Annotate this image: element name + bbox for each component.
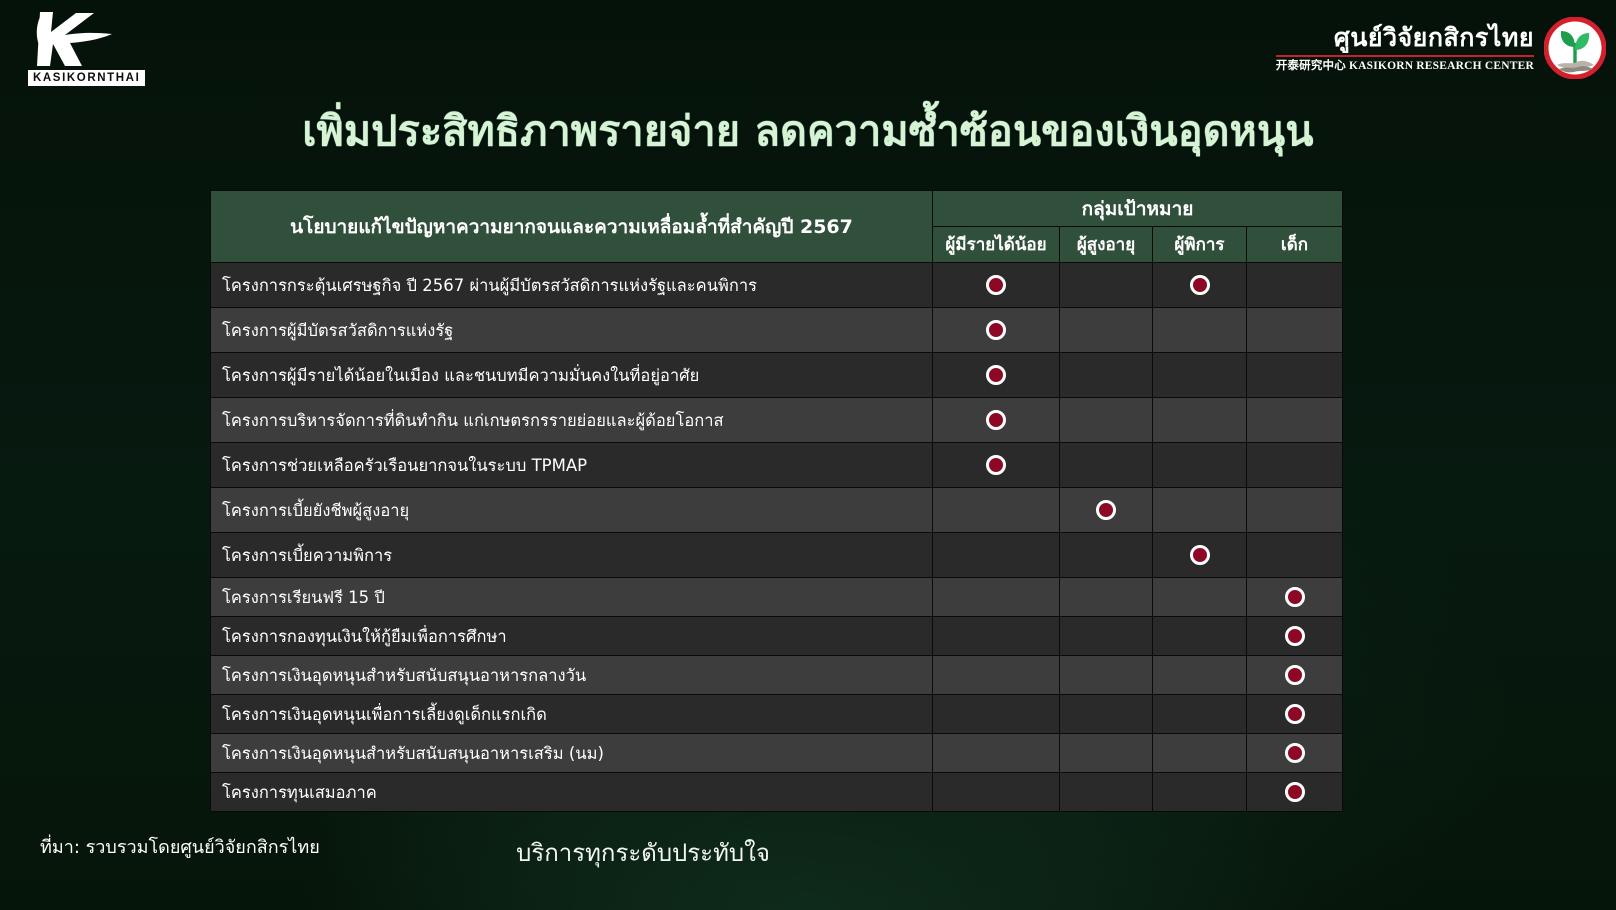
mark-cell-children xyxy=(1247,773,1343,812)
mark-cell-children xyxy=(1247,443,1343,488)
mark-cell-low-income xyxy=(933,656,1060,695)
target-dot-marker xyxy=(1190,275,1210,295)
mark-cell-children xyxy=(1247,353,1343,398)
policy-name-cell: โครงการทุนเสมอภาค xyxy=(211,773,933,812)
mark-cell-elderly xyxy=(1060,398,1153,443)
mark-cell-elderly xyxy=(1060,773,1153,812)
mark-cell-low-income xyxy=(933,578,1060,617)
policy-name-cell: โครงการเงินอุดหนุนสำหรับสนับสนุนอาหารกลา… xyxy=(211,656,933,695)
policy-target-group-table: นโยบายแก้ไขปัญหาความยากจนและความเหลื่อมล… xyxy=(210,190,1342,812)
mark-cell-disabled xyxy=(1153,398,1247,443)
table-row: โครงการเงินอุดหนุนเพื่อการเลี้ยงดูเด็กแร… xyxy=(211,695,1343,734)
mark-cell-disabled xyxy=(1153,263,1247,308)
mark-cell-elderly xyxy=(1060,617,1153,656)
table-row: โครงการช่วยเหลือครัวเรือนยากจนในระบบ TPM… xyxy=(211,443,1343,488)
mark-cell-elderly xyxy=(1060,533,1153,578)
mark-cell-low-income xyxy=(933,308,1060,353)
mark-cell-children xyxy=(1247,617,1343,656)
target-dot-marker xyxy=(986,320,1006,340)
policy-name-cell: โครงการผู้มีบัตรสวัสดิการแห่งรัฐ xyxy=(211,308,933,353)
mark-cell-low-income xyxy=(933,398,1060,443)
mark-cell-elderly xyxy=(1060,353,1153,398)
mark-cell-disabled xyxy=(1153,308,1247,353)
kresearch-text-block: ศูนย์วิจัยกสิกรไทย 开泰研究中心 KASIKORN RESEA… xyxy=(1276,23,1534,74)
kresearch-thai-name: ศูนย์วิจัยกสิกรไทย xyxy=(1276,23,1534,53)
mark-cell-disabled xyxy=(1153,443,1247,488)
column-header-disabled: ผู้พิการ xyxy=(1153,227,1247,263)
policy-name-cell: โครงการบริหารจัดการที่ดินทำกิน แก่เกษตรก… xyxy=(211,398,933,443)
table-row: โครงการบริหารจัดการที่ดินทำกิน แก่เกษตรก… xyxy=(211,398,1343,443)
policy-column-header: นโยบายแก้ไขปัญหาความยากจนและความเหลื่อมล… xyxy=(211,191,933,263)
policy-name-cell: โครงการเงินอุดหนุนสำหรับสนับสนุนอาหารเสร… xyxy=(211,734,933,773)
mark-cell-low-income xyxy=(933,773,1060,812)
table-row: โครงการเงินอุดหนุนสำหรับสนับสนุนอาหารเสร… xyxy=(211,734,1343,773)
brand-slogan: บริการทุกระดับประทับใจ xyxy=(0,838,1616,868)
mark-cell-disabled xyxy=(1153,734,1247,773)
mark-cell-low-income xyxy=(933,488,1060,533)
column-header-elderly: ผู้สูงอายุ xyxy=(1060,227,1153,263)
target-dot-marker xyxy=(1285,704,1305,724)
mark-cell-children xyxy=(1247,308,1343,353)
mark-cell-children xyxy=(1247,695,1343,734)
target-dot-marker xyxy=(986,455,1006,475)
target-dot-marker xyxy=(1285,587,1305,607)
mark-cell-low-income xyxy=(933,734,1060,773)
slide-canvas: KASIKORNTHAI ศูนย์วิจัยกสิกรไทย 开泰研究中心 K… xyxy=(0,0,1616,910)
mark-cell-elderly xyxy=(1060,263,1153,308)
target-dot-marker xyxy=(1285,782,1305,802)
kasikornthai-k-mark xyxy=(20,10,116,68)
page-title: เพิ่มประสิทธิภาพรายจ่าย ลดความซ้ำซ้อนของ… xyxy=(0,104,1616,158)
table-row: โครงการกระตุ้นเศรษฐกิจ ปี 2567 ผ่านผู้มี… xyxy=(211,263,1343,308)
mark-cell-elderly xyxy=(1060,488,1153,533)
table-row: โครงการเงินอุดหนุนสำหรับสนับสนุนอาหารกลา… xyxy=(211,656,1343,695)
table-header-row-1: นโยบายแก้ไขปัญหาความยากจนและความเหลื่อมล… xyxy=(211,191,1343,227)
table-row: โครงการเบี้ยความพิการ xyxy=(211,533,1343,578)
table-row: โครงการเรียนฟรี 15 ปี xyxy=(211,578,1343,617)
table-head: นโยบายแก้ไขปัญหาความยากจนและความเหลื่อมล… xyxy=(211,191,1343,263)
target-dot-marker xyxy=(986,365,1006,385)
kasikornthai-logo: KASIKORNTHAI xyxy=(14,8,129,93)
mark-cell-children xyxy=(1247,656,1343,695)
kasikorn-sprout-seal-icon xyxy=(1544,17,1606,79)
kresearch-logo: ศูนย์วิจัยกสิกรไทย 开泰研究中心 KASIKORN RESEA… xyxy=(1276,8,1606,88)
policy-name-cell: โครงการช่วยเหลือครัวเรือนยากจนในระบบ TPM… xyxy=(211,443,933,488)
target-group-header: กลุ่มเป้าหมาย xyxy=(933,191,1343,227)
policy-name-cell: โครงการเรียนฟรี 15 ปี xyxy=(211,578,933,617)
mark-cell-elderly xyxy=(1060,734,1153,773)
kasikornthai-wordmark: KASIKORNTHAI xyxy=(28,70,145,86)
table-row: โครงการผู้มีบัตรสวัสดิการแห่งรัฐ xyxy=(211,308,1343,353)
mark-cell-disabled xyxy=(1153,695,1247,734)
mark-cell-disabled xyxy=(1153,617,1247,656)
mark-cell-disabled xyxy=(1153,656,1247,695)
policy-name-cell: โครงการกระตุ้นเศรษฐกิจ ปี 2567 ผ่านผู้มี… xyxy=(211,263,933,308)
mark-cell-low-income xyxy=(933,443,1060,488)
mark-cell-disabled xyxy=(1153,353,1247,398)
mark-cell-disabled xyxy=(1153,773,1247,812)
target-dot-marker xyxy=(1096,500,1116,520)
kresearch-divider-rule xyxy=(1276,55,1534,58)
mark-cell-children xyxy=(1247,263,1343,308)
mark-cell-elderly xyxy=(1060,443,1153,488)
mark-cell-low-income xyxy=(933,695,1060,734)
mark-cell-children xyxy=(1247,488,1343,533)
policy-name-cell: โครงการกองทุนเงินให้กู้ยืมเพื่อการศึกษา xyxy=(211,617,933,656)
mark-cell-elderly xyxy=(1060,578,1153,617)
mark-cell-low-income xyxy=(933,533,1060,578)
table-row: โครงการเบี้ยยังชีพผู้สูงอายุ xyxy=(211,488,1343,533)
target-dot-marker xyxy=(1285,626,1305,646)
mark-cell-children xyxy=(1247,578,1343,617)
table-body: โครงการกระตุ้นเศรษฐกิจ ปี 2567 ผ่านผู้มี… xyxy=(211,263,1343,812)
target-dot-marker xyxy=(1190,545,1210,565)
target-dot-marker xyxy=(1285,665,1305,685)
mark-cell-low-income xyxy=(933,353,1060,398)
policy-name-cell: โครงการเงินอุดหนุนเพื่อการเลี้ยงดูเด็กแร… xyxy=(211,695,933,734)
target-dot-marker xyxy=(1285,743,1305,763)
mark-cell-disabled xyxy=(1153,578,1247,617)
target-dot-marker xyxy=(986,410,1006,430)
mark-cell-disabled xyxy=(1153,488,1247,533)
table-row: โครงการกองทุนเงินให้กู้ยืมเพื่อการศึกษา xyxy=(211,617,1343,656)
policy-name-cell: โครงการเบี้ยความพิการ xyxy=(211,533,933,578)
policy-name-cell: โครงการเบี้ยยังชีพผู้สูงอายุ xyxy=(211,488,933,533)
kresearch-english-name: 开泰研究中心 KASIKORN RESEARCH CENTER xyxy=(1276,60,1534,73)
mark-cell-low-income xyxy=(933,263,1060,308)
column-header-low-income: ผู้มีรายได้น้อย xyxy=(933,227,1060,263)
kresearch-chinese-name: 开泰研究中心 xyxy=(1276,60,1346,72)
mark-cell-children xyxy=(1247,734,1343,773)
mark-cell-disabled xyxy=(1153,533,1247,578)
kresearch-english-label: KASIKORN RESEARCH CENTER xyxy=(1349,60,1534,72)
table-row: โครงการผู้มีรายได้น้อยในเมือง และชนบทมีค… xyxy=(211,353,1343,398)
policy-name-cell: โครงการผู้มีรายได้น้อยในเมือง และชนบทมีค… xyxy=(211,353,933,398)
column-header-children: เด็ก xyxy=(1247,227,1343,263)
mark-cell-children xyxy=(1247,398,1343,443)
mark-cell-low-income xyxy=(933,617,1060,656)
table-row: โครงการทุนเสมอภาค xyxy=(211,773,1343,812)
mark-cell-children xyxy=(1247,533,1343,578)
mark-cell-elderly xyxy=(1060,656,1153,695)
target-dot-marker xyxy=(986,275,1006,295)
mark-cell-elderly xyxy=(1060,695,1153,734)
mark-cell-elderly xyxy=(1060,308,1153,353)
